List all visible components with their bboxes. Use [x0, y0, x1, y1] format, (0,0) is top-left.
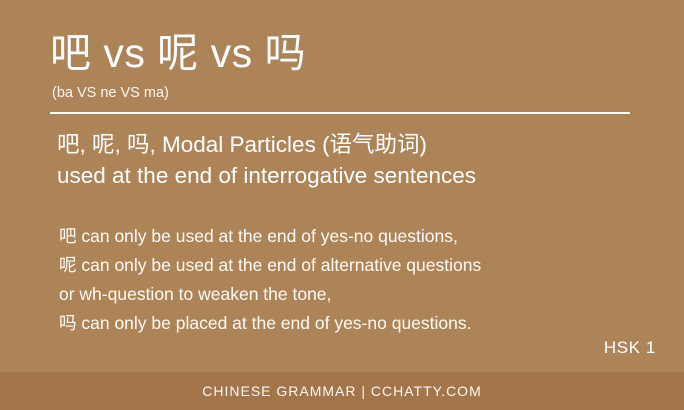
grammar-card: 吧 vs 呢 vs 吗 (ba VS ne VS ma) 吧, 呢, 吗, Mo…	[0, 0, 684, 410]
page-title: 吧 vs 呢 vs 吗	[50, 33, 306, 74]
card-footer: CHINESE GRAMMAR | CCHATTY.COM	[0, 372, 684, 410]
usage-rule-line-2: 呢 can only be used at the end of alterna…	[59, 251, 659, 280]
definition-block: 吧, 呢, 吗, Modal Particles (语气助词) used at …	[57, 129, 657, 191]
usage-rules-block: 吧 can only be used at the end of yes-no …	[59, 222, 659, 338]
definition-line-2: used at the end of interrogative sentenc…	[57, 160, 657, 191]
hsk-level-badge: HSK 1	[604, 338, 656, 358]
header-divider	[50, 112, 630, 114]
footer-branding-text: CHINESE GRAMMAR | CCHATTY.COM	[202, 383, 481, 399]
title-pinyin-subtitle: (ba VS ne VS ma)	[52, 86, 169, 101]
usage-rule-line-3: or wh-question to weaken the tone,	[59, 280, 659, 309]
definition-line-1: 吧, 呢, 吗, Modal Particles (语气助词)	[57, 129, 657, 160]
usage-rule-line-1: 吧 can only be used at the end of yes-no …	[59, 222, 659, 251]
usage-rule-line-4: 吗 can only be placed at the end of yes-n…	[59, 309, 659, 338]
